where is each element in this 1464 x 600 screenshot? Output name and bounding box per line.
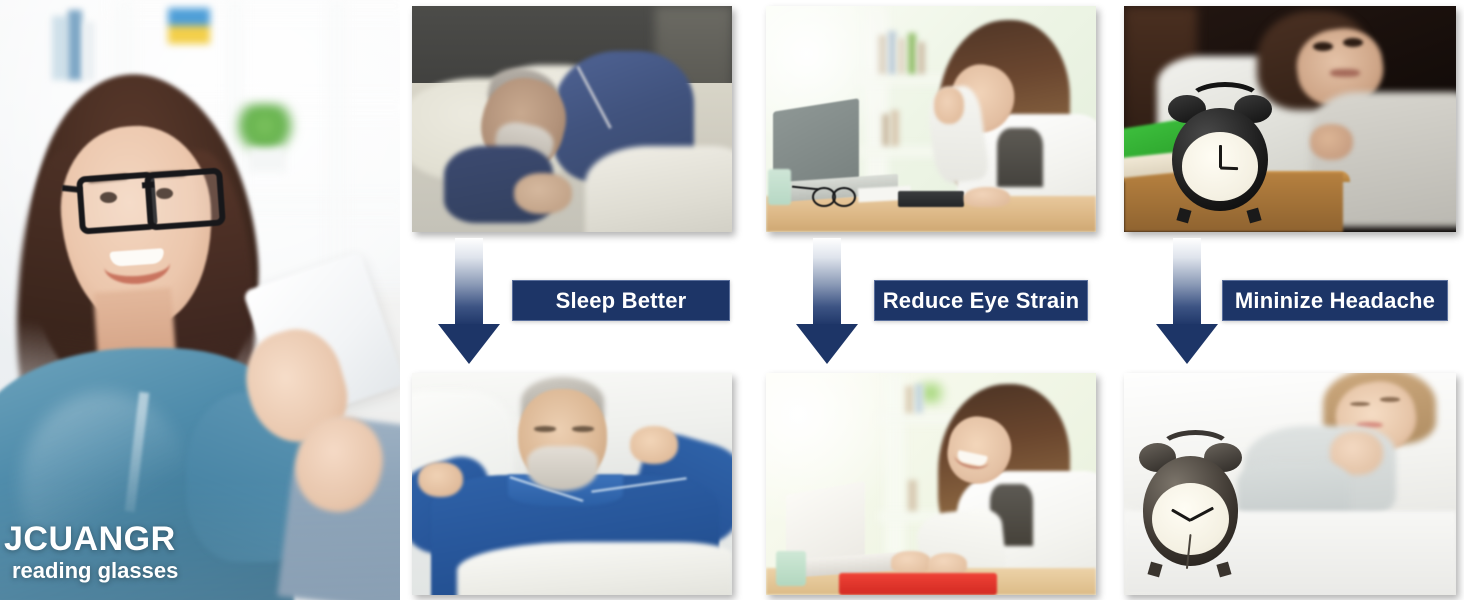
blue-yellow-book — [168, 8, 210, 44]
brand-name: JCUANGR — [4, 522, 178, 556]
down-arrow-mininize-headache — [1156, 238, 1218, 364]
clock-face — [1182, 132, 1258, 200]
clock-body — [1172, 108, 1268, 212]
book — [52, 16, 68, 80]
inner-top — [997, 128, 1043, 187]
book — [898, 38, 905, 74]
hand-on-head — [934, 87, 964, 123]
after-photo-mininize-headache — [1124, 373, 1456, 595]
eyeglasses-lens-right — [832, 187, 856, 207]
eye — [534, 426, 556, 432]
book — [84, 22, 94, 80]
clock-hour-hand — [1171, 508, 1191, 521]
before-photo-mininize-headache — [1124, 6, 1456, 232]
clock-minute-hand — [1190, 507, 1214, 521]
benefit-label-text: Reduce Eye Strain — [883, 288, 1080, 314]
after-photo-sleep-better — [412, 373, 732, 595]
down-arrow-sleep-better — [438, 238, 500, 364]
benefit-label-text: Mininize Headache — [1235, 288, 1435, 314]
quilt — [457, 542, 732, 595]
fist-left — [418, 462, 463, 498]
benefit-label-reduce-eye-strain: Reduce Eye Strain — [874, 280, 1088, 321]
calculator — [898, 191, 964, 207]
book — [905, 386, 915, 413]
benefit-label-sleep-better: Sleep Better — [512, 280, 730, 321]
plant-pot — [248, 148, 286, 172]
bedsheet — [585, 146, 732, 232]
eye — [572, 426, 594, 432]
before-photo-sleep-better — [412, 6, 732, 232]
after-photo-reduce-eye-strain — [766, 373, 1096, 595]
down-arrow-reduce-eye-strain — [796, 238, 858, 364]
clock-second-hand — [1186, 534, 1191, 569]
alarm-clock — [1141, 435, 1241, 568]
clock-face — [1152, 483, 1228, 555]
shelf-board — [110, 0, 400, 18]
book — [915, 384, 924, 413]
product-feature-banner: JCUANGR reading glasses — [0, 0, 1464, 600]
alarm-clock — [1170, 87, 1270, 214]
red-notebook — [839, 573, 997, 595]
benefit-label-mininize-headache: Mininize Headache — [1222, 280, 1448, 321]
book — [908, 33, 917, 74]
arrow-shaft — [813, 238, 841, 326]
mug — [776, 551, 806, 587]
eye — [1343, 38, 1363, 47]
book — [918, 42, 925, 74]
beard — [527, 446, 597, 490]
brand-watermark: JCUANGR reading glasses — [8, 522, 178, 582]
arrow-head — [438, 324, 500, 364]
fist-right — [630, 426, 678, 464]
arrow-head — [796, 324, 858, 364]
eyeglasses-lens-right — [144, 167, 226, 230]
hand — [514, 173, 572, 214]
hand — [964, 187, 1010, 207]
clock-hour-hand — [1219, 145, 1222, 168]
benefit-label-text: Sleep Better — [556, 288, 687, 314]
brand-tagline: reading glasses — [12, 560, 178, 582]
lips — [1330, 69, 1360, 77]
hero-photo-woman-with-reading-glasses: JCUANGR reading glasses — [0, 0, 400, 600]
book — [68, 10, 82, 80]
mug — [768, 169, 791, 205]
hand — [891, 551, 931, 573]
hand — [928, 553, 968, 575]
before-photo-reduce-eye-strain — [766, 6, 1096, 232]
arrow-shaft — [1173, 238, 1201, 326]
arrow-shaft — [455, 238, 483, 326]
eye — [1380, 397, 1400, 401]
clock-minute-hand — [1220, 167, 1238, 170]
arrow-head — [1156, 324, 1218, 364]
hand — [1310, 124, 1353, 160]
book — [908, 480, 917, 511]
clock-body — [1143, 456, 1239, 565]
eyeglasses-bridge — [142, 182, 154, 189]
